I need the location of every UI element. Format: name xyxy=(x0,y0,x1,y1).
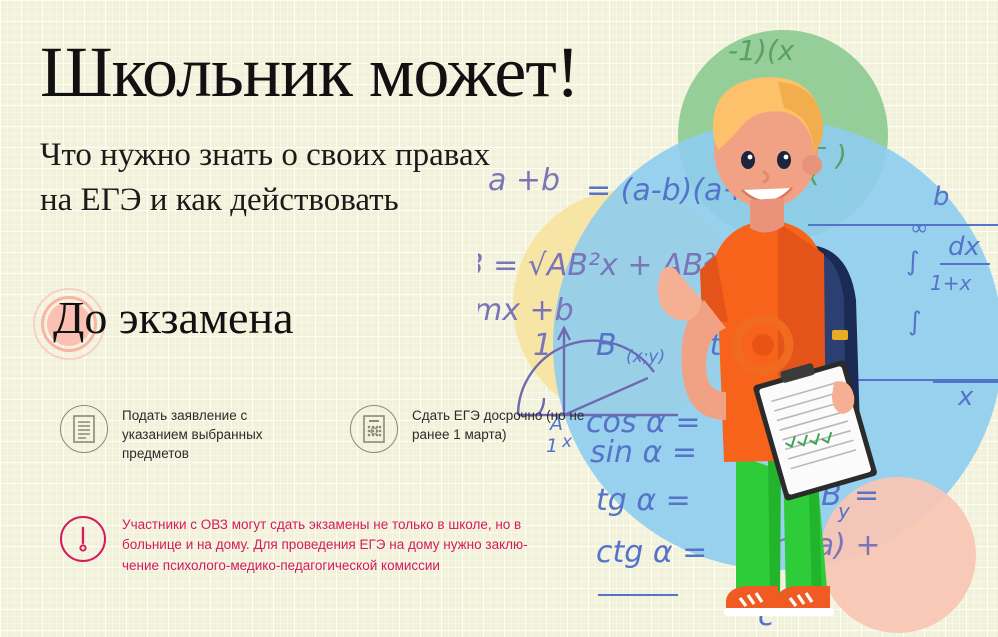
list-item: Подать заявление с указанием выбранных п… xyxy=(60,404,310,463)
svg-text:B: B xyxy=(596,328,617,363)
svg-text:∫: ∫ xyxy=(906,247,920,277)
page-title: Школьник может! xyxy=(40,36,579,108)
svg-text:sin α =: sin α = xyxy=(590,435,697,470)
page-subtitle: Что нужно знать о своих правах на ЕГЭ и … xyxy=(40,133,490,223)
svg-text:tg α =: tg α = xyxy=(596,483,691,518)
svg-text:a +b: a +b xyxy=(488,163,560,198)
list-item-label: Сдать ЕГЭ досрочно (но не ранее 1 марта) xyxy=(412,404,600,444)
exclamation-icon xyxy=(60,516,106,562)
svg-text:=: = xyxy=(854,478,879,513)
subtitle-line-2: на ЕГЭ и как действовать xyxy=(40,178,490,223)
svg-text:mx +b: mx +b xyxy=(478,293,574,328)
list-item-label: Подать заявление с указанием выбранных п… xyxy=(122,404,310,463)
svg-text:y: y xyxy=(837,499,851,523)
section-heading-label: До экзамена xyxy=(53,295,294,341)
svg-text:1+x: 1+x xyxy=(930,271,971,295)
warning-text: Участники с ОВЗ могут сдать экзамены не … xyxy=(122,514,528,576)
svg-text:x: x xyxy=(957,382,974,412)
svg-text:∫: ∫ xyxy=(908,307,922,337)
answer-sheet-icon xyxy=(350,405,398,453)
svg-text:(x;y): (x;y) xyxy=(626,347,665,367)
list-item: Сдать ЕГЭ досрочно (но не ранее 1 марта) xyxy=(350,404,600,453)
subtitle-line-1: Что нужно знать о своих правах xyxy=(40,133,490,178)
svg-text:b: b xyxy=(933,182,950,212)
svg-text:-1)(x: -1)(x xyxy=(728,34,795,67)
svg-text:): ) xyxy=(834,139,847,172)
svg-text:dx: dx xyxy=(948,232,981,262)
svg-text:∞: ∞ xyxy=(910,216,928,241)
warning-note: Участники с ОВЗ могут сдать экзамены не … xyxy=(60,514,528,576)
svg-text:ctg α =: ctg α = xyxy=(596,535,707,570)
infographic-root: a +b B = √AB²x + AB² mx +b 1 xyxy=(0,0,998,637)
svg-text:1: 1 xyxy=(533,328,552,363)
document-icon xyxy=(60,405,108,453)
